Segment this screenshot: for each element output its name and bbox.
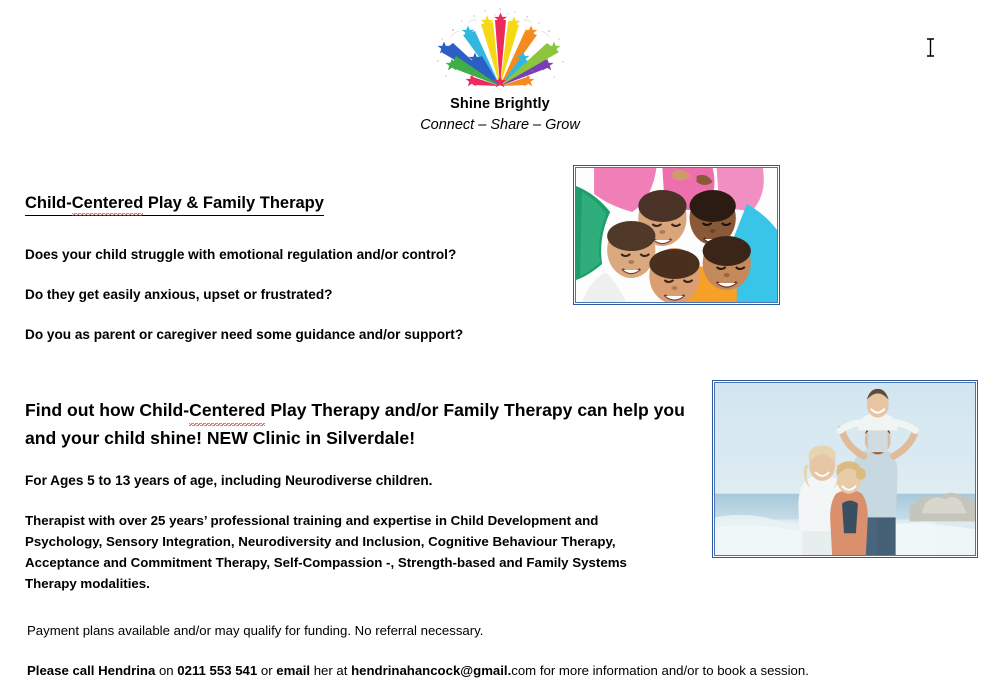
heading-text-after: Play & Family Therapy	[143, 194, 324, 212]
section-one-heading: Child-Centered Play & Family Therapy	[25, 192, 324, 216]
photo-children-circle-image	[576, 168, 777, 302]
section-two-headline: Find out how Child-Centered Play Therapy…	[25, 396, 705, 452]
contact-line: Please call Hendrina on 0211 553 541 or …	[27, 662, 927, 680]
payment-line: Payment plans available and/or may quali…	[27, 622, 927, 640]
question-line-2: Do they get easily anxious, upset or fru…	[25, 286, 545, 304]
contact-phone-number[interactable]: 0211 553 541	[177, 663, 257, 678]
contact-her-at-text: her at	[310, 663, 351, 678]
photo-family-beach-image	[715, 383, 975, 555]
contact-email-tld: com	[511, 663, 536, 678]
contact-on-text: on	[155, 663, 177, 678]
photo-children-circle	[573, 165, 780, 305]
question-line-3: Do you as parent or caregiver need some …	[25, 326, 545, 344]
headline-part-1: Find out how Child-	[25, 400, 189, 420]
question-line-1: Does your child struggle with emotional …	[25, 246, 545, 264]
brand-tagline: Connect – Share – Grow	[0, 115, 1000, 135]
credentials-paragraph: Therapist with over 25 years’ profession…	[25, 510, 675, 594]
misspelled-word-centered: Centered	[72, 192, 144, 214]
contact-email-label: email	[276, 663, 310, 678]
masthead: Shine Brightly Connect – Share – Grow	[0, 0, 1000, 135]
heading-text-before: Child-	[25, 194, 72, 212]
contact-or-text: or	[257, 663, 276, 678]
text-ibeam-cursor-icon	[925, 38, 936, 57]
star-burst-logo-icon	[420, 6, 580, 94]
brand-name: Shine Brightly	[0, 95, 1000, 113]
intro-section: Child-Centered Play & Family Therapy Doe…	[25, 192, 545, 344]
photo-family-beach	[712, 380, 978, 558]
contact-email-address[interactable]: hendrinahancock@gmail.	[351, 663, 511, 678]
contact-call-label: Please call Hendrina	[27, 663, 155, 678]
contact-closing-text: for more information and/or to book a se…	[536, 663, 809, 678]
offer-section: Find out how Child-Centered Play Therapy…	[25, 396, 705, 594]
ages-line: For Ages 5 to 13 years of age, including…	[25, 472, 705, 490]
misspelled-word-centered-2: Centered	[189, 396, 265, 424]
footer-section: Payment plans available and/or may quali…	[27, 622, 927, 680]
